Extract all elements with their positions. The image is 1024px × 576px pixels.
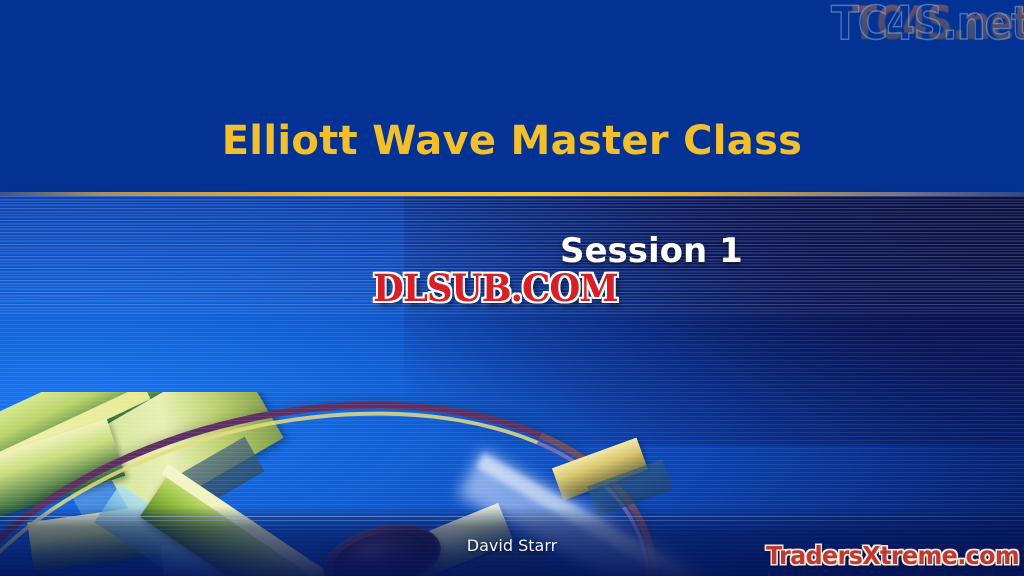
- tradersxtreme-logo: TradersXtreme.com: [766, 541, 1019, 570]
- session-label: Session 1: [560, 231, 743, 271]
- tc4s-watermark-outline: TC4S.net: [831, 0, 1024, 50]
- page-title: Elliott Wave Master Class: [0, 118, 1024, 164]
- presentation-title-slide: TC4S.net TC4S.net Elliott Wave Master Cl…: [0, 0, 1024, 576]
- artwork-panel: [0, 196, 1024, 576]
- dlsub-watermark: DLSUB.COM: [373, 266, 618, 310]
- tc4s-watermark: TC4S.net TC4S.net: [764, 0, 1024, 60]
